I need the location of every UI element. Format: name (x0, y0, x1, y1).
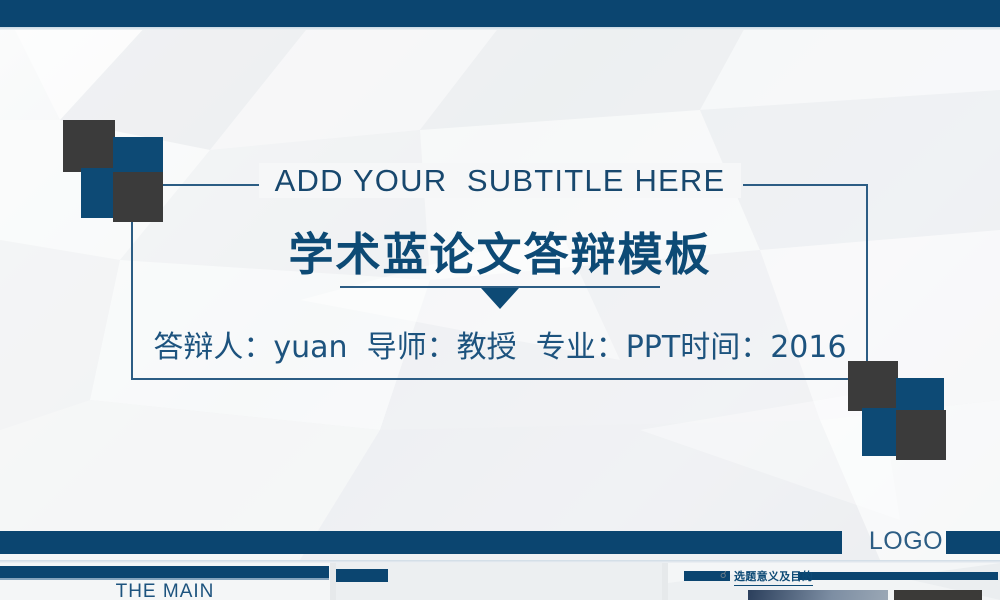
slide-thumbnail-strip: THE MAIN ☌ 选题意义及目的 (0, 563, 1000, 600)
slide-byline: 答辩人：yuan 导师：教授 专业：PPT时间：2016 (0, 322, 1000, 366)
presentation-canvas: ADD YOUR SUBTITLE HERE 学术蓝论文答辩模板 答辩人：yua… (0, 0, 1000, 600)
thumbnail-left-heading: THE MAIN (0, 581, 330, 600)
thumbnail-image-placeholder (894, 590, 982, 600)
slide-subtitle-english-text: ADD YOUR SUBTITLE HERE (259, 163, 742, 198)
slide-top-band-shadow (0, 27, 1000, 30)
slide-subtitle-english: ADD YOUR SUBTITLE HERE (0, 163, 1000, 199)
thumbnail-header-edge (0, 578, 329, 580)
slide-top-band (0, 0, 1000, 27)
decor-square-dark (896, 410, 946, 460)
slide-footer-band-right (946, 531, 1000, 554)
decor-square-dark (848, 361, 898, 411)
thumbnail-heading-bar-right (798, 572, 998, 580)
frame-line-bottom (131, 378, 868, 380)
page-title: 学术蓝论文答辩模板 (0, 218, 1000, 283)
slide-thumbnail-middle[interactable] (336, 563, 662, 600)
link-icon: ☌ (720, 570, 727, 581)
logo: LOGO (865, 527, 947, 556)
caret-down-icon (481, 288, 519, 309)
thumbnail-image-placeholder (748, 590, 888, 600)
slide-thumbnail-left[interactable]: THE MAIN (0, 563, 330, 600)
slide-footer-band (0, 531, 842, 554)
slide-thumbnail-right[interactable]: ☌ 选题意义及目的 (668, 563, 1000, 600)
thumbnail-notch (336, 569, 388, 582)
thumbnail-right-heading: 选题意义及目的 (734, 568, 813, 586)
title-slide: ADD YOUR SUBTITLE HERE 学术蓝论文答辩模板 答辩人：yua… (0, 0, 1000, 565)
thumbnail-header-band (0, 566, 329, 578)
